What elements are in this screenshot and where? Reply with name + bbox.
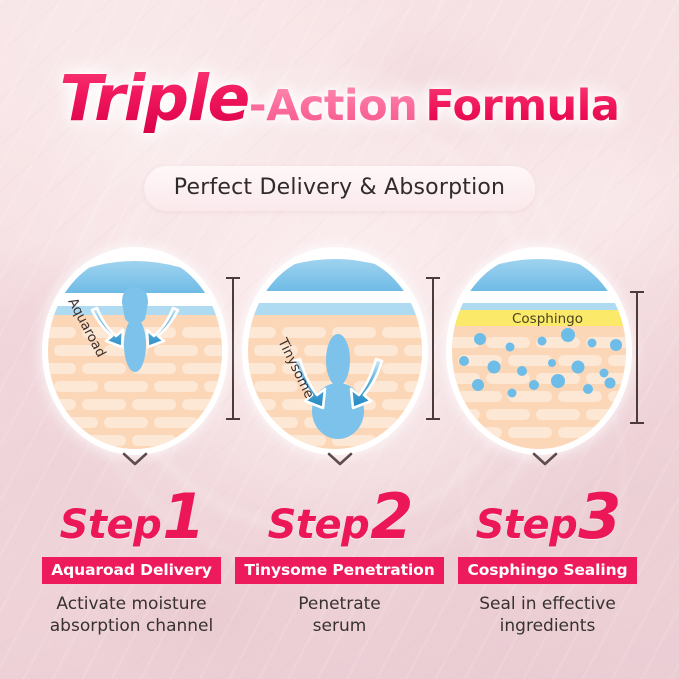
diagram-cosphingo: Cosphingo [452,253,642,449]
diagram-row: Aquaroad [0,253,679,449]
chevron-down-icon [122,452,148,466]
depth-indicator-3 [630,291,644,424]
subtitle-text: Perfect Delivery & Absorption [174,175,505,200]
title-part-formula: Formula [425,81,619,131]
step-word-1: Step [60,505,162,545]
step-desc-line-2b: serum [227,615,452,637]
step-item-3: Step3 Cosphingo Sealing Seal in effectiv… [435,486,660,637]
step-description-2: Penetrate serum [227,593,452,637]
skin-cross-section-2: Tinysome [248,253,422,449]
step-heading-2: Step2 [227,486,452,548]
step-heading-3: Step3 [435,486,660,548]
step-desc-line-3b: ingredients [435,615,660,637]
chevron-down-icon [327,452,353,466]
title-part-action: -Action [249,81,418,131]
page-title: Triple-ActionFormula [0,62,679,135]
depth-indicator-2 [426,277,440,420]
chevron-down-icon [532,452,558,466]
infographic-page: Triple-ActionFormula Perfect Delivery & … [0,0,679,679]
steps-row: Step1 Aquaroad Delivery Activate moistur… [0,486,679,666]
step-desc-line-1b: absorption channel [19,615,244,637]
step-number-1: 1 [162,486,203,548]
diagram-aquaroad: Aquaroad [48,253,238,449]
step-badge-1: Aquaroad Delivery [42,557,221,584]
step-word-2: Step [268,505,370,545]
step-badge-2: Tinysome Penetration [235,557,443,584]
skin-cross-section-3: Cosphingo [452,253,626,449]
svg-text:Cosphingo: Cosphingo [512,311,583,327]
step-word-3: Step [476,505,578,545]
step-number-3: 3 [578,486,619,548]
step-desc-line-1a: Activate moisture [19,593,244,615]
step-description-3: Seal in effective ingredients [435,593,660,637]
step-heading-1: Step1 [19,486,244,548]
depth-indicator-1 [226,277,240,420]
step-item-1: Step1 Aquaroad Delivery Activate moistur… [19,486,244,637]
subtitle-banner: Perfect Delivery & Absorption [144,166,535,211]
step-desc-line-2a: Penetrate [227,593,452,615]
step-badge-3: Cosphingo Sealing [458,557,636,584]
step-item-2: Step2 Tinysome Penetration Penetrate ser… [227,486,452,637]
diagram-tinysome: Tinysome [248,253,438,449]
step-number-2: 2 [370,486,411,548]
step-description-1: Activate moisture absorption channel [19,593,244,637]
skin-cross-section-1: Aquaroad [48,253,222,449]
step-desc-line-3a: Seal in effective [435,593,660,615]
title-part-triple: Triple [60,62,249,135]
